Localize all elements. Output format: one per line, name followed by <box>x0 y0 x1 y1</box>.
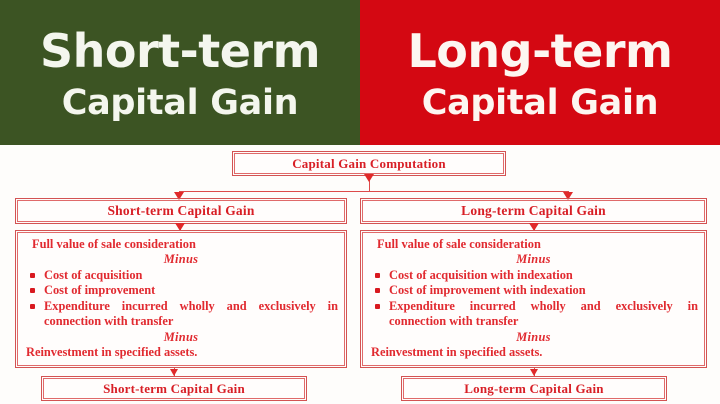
arrow-lt-head-panel-icon <box>529 223 539 231</box>
list-item: Cost of improvement with indexation <box>369 283 698 298</box>
infographic-root: Short-term Capital Gain Long-term Capita… <box>0 0 720 404</box>
st-minus-1: Minus <box>24 252 338 267</box>
list-item: Cost of acquisition <box>24 268 338 283</box>
banner-left-line1: Short-term <box>40 28 320 74</box>
st-bullet-3: Expenditure incurred wholly and exclusiv… <box>44 299 338 328</box>
bullet-dot-icon <box>375 273 380 278</box>
lt-tail: Reinvestment in specified assets. <box>369 345 698 360</box>
flow-node-short-term-result: Short-term Capital Gain <box>43 378 305 399</box>
banner-left-line2: Capital Gain <box>62 86 299 121</box>
banner-half-long-term: Long-term Capital Gain <box>360 0 720 145</box>
st-minus-2: Minus <box>24 330 338 345</box>
lt-bullet-3: Expenditure incurred wholly and exclusiv… <box>389 299 698 328</box>
arrow-split-right-icon <box>563 192 573 200</box>
bullet-dot-icon <box>30 304 35 309</box>
st-bullet-1: Cost of acquisition <box>44 268 142 282</box>
list-item: Expenditure incurred wholly and exclusiv… <box>24 299 338 329</box>
bullet-dot-icon <box>375 304 380 309</box>
arrow-st-result-icon <box>170 369 178 376</box>
lt-headline: Full value of sale consideration <box>369 237 698 252</box>
title-banner: Short-term Capital Gain Long-term Capita… <box>0 0 720 145</box>
list-item: Cost of acquisition with indexation <box>369 268 698 283</box>
arrow-st-head-panel-icon <box>175 223 185 231</box>
lt-bullet-2: Cost of improvement with indexation <box>389 283 586 297</box>
bullet-dot-icon <box>30 288 35 293</box>
st-deduction-list: Cost of acquisition Cost of improvement … <box>24 268 338 329</box>
st-bullet-2: Cost of improvement <box>44 283 155 297</box>
st-tail: Reinvestment in specified assets. <box>24 345 338 360</box>
lt-minus-2: Minus <box>369 330 698 345</box>
connector-split-bar <box>179 191 569 192</box>
bullet-dot-icon <box>375 288 380 293</box>
banner-right-line2: Capital Gain <box>422 86 659 121</box>
arrow-lt-result-icon <box>530 369 538 376</box>
banner-half-short-term: Short-term Capital Gain <box>0 0 360 145</box>
st-headline: Full value of sale consideration <box>24 237 338 252</box>
list-item: Expenditure incurred wholly and exclusiv… <box>369 299 698 329</box>
flow-node-long-term-heading: Long-term Capital Gain <box>362 200 705 222</box>
bullet-dot-icon <box>30 273 35 278</box>
banner-right-line1: Long-term <box>408 28 673 74</box>
lt-bullet-1: Cost of acquisition with indexation <box>389 268 573 282</box>
lt-deduction-list: Cost of acquisition with indexation Cost… <box>369 268 698 329</box>
flow-panel-long-term: Full value of sale consideration Minus C… <box>362 232 705 366</box>
flow-node-long-term-result: Long-term Capital Gain <box>403 378 665 399</box>
flow-node-root: Capital Gain Computation <box>234 153 504 174</box>
list-item: Cost of improvement <box>24 283 338 298</box>
arrow-root-down-icon <box>364 174 374 182</box>
capital-gain-flowchart: Capital Gain Computation Short-term Capi… <box>0 145 720 404</box>
flow-node-short-term-heading: Short-term Capital Gain <box>17 200 345 222</box>
arrow-split-left-icon <box>174 192 184 200</box>
flow-panel-short-term: Full value of sale consideration Minus C… <box>17 232 345 366</box>
lt-minus-1: Minus <box>369 252 698 267</box>
